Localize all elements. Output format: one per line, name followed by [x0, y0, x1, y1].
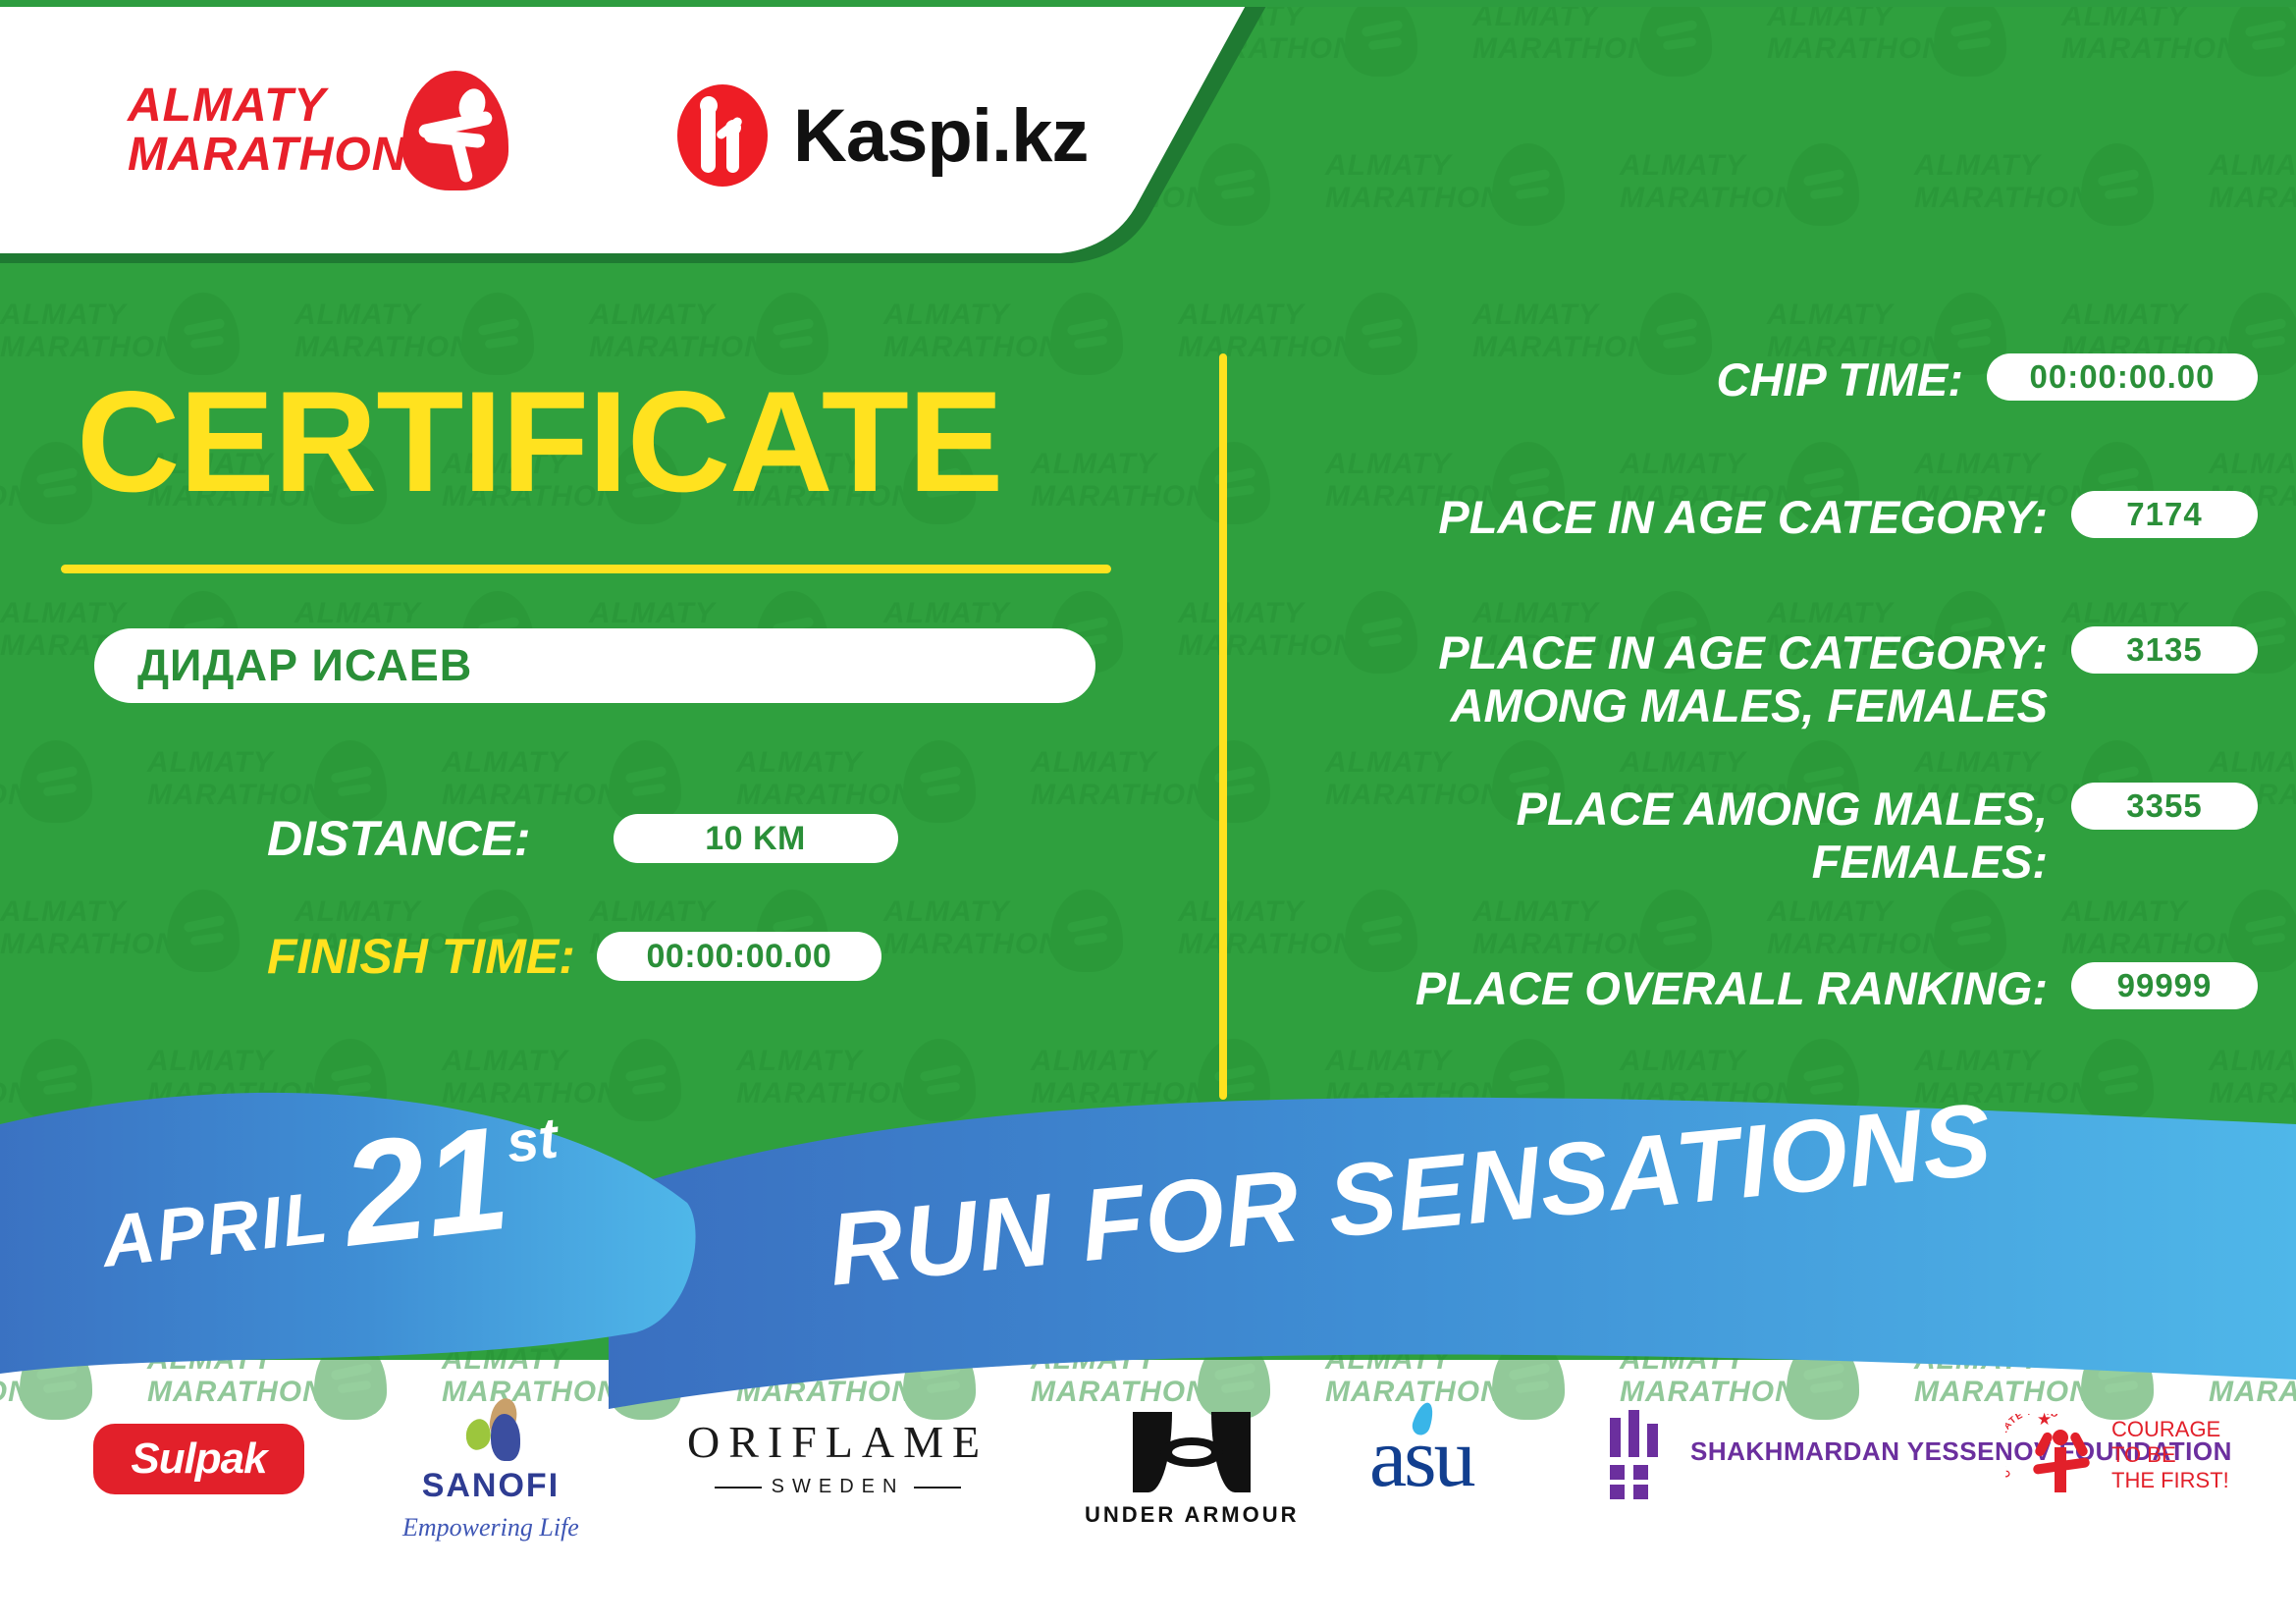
courage-fund-icon: CORPORATE FUND ★ [2007, 1410, 2098, 1500]
kaspi-family-icon [677, 84, 768, 187]
yessenov-bar-2 [1629, 1410, 1639, 1457]
watermark-text: ALMATY [2209, 149, 2296, 182]
sulpak-logo: Sulpak [93, 1424, 304, 1494]
watermark-tile: ALMATYMARATHON [2209, 149, 2296, 297]
kaspi-wordmark: Kaspi.kz [793, 93, 1088, 179]
logo-line-1: ALMATY [128, 81, 406, 131]
event-month: APRIL [97, 1174, 333, 1283]
yessenov-icon [1610, 1410, 1671, 1492]
distance-row: DISTANCE: 10 KM [267, 810, 898, 867]
stat-row-place-overall: PLACE OVERALL RANKING: 99999 [1266, 962, 2258, 1015]
oriflame-rule-left [715, 1487, 762, 1489]
sponsor-under-armour: UNDER ARMOUR [1085, 1412, 1300, 1528]
watermark-tile: ALMATYMARATHON [1472, 0, 1767, 147]
participant-name-field: ДИДАР ИСАЕВ [94, 628, 1095, 703]
stat-value: 99999 [2117, 967, 2213, 1004]
under-armour-wordmark: UNDER ARMOUR [1085, 1502, 1300, 1528]
stat-label: PLACE IN AGE CATEGORY: AMONG MALES, FEMA… [1266, 626, 2071, 732]
sponsor-sanofi: SANOFI Empowering Life [402, 1396, 579, 1543]
watermark-tile: ALMATYMARATHON [1767, 0, 2061, 147]
watermark-text: ALMATY [1472, 298, 1767, 331]
oriflame-sub-row: SWEDEN [715, 1476, 962, 1498]
sponsor-courage-fund: CORPORATE FUND ★ COURAGE TO BE THE FIRST… [2007, 1410, 2229, 1500]
yessenov-bar-3 [1647, 1424, 1658, 1457]
finish-time-value: 00:00:00.00 [646, 938, 831, 976]
distance-label: DISTANCE: [267, 810, 531, 867]
stat-value-pill: 7174 [2071, 491, 2258, 538]
page-title: CERTIFICATE [77, 368, 1002, 515]
watermark-text: ALMATY [1767, 298, 2061, 331]
sponsor-oriflame: ORIFLAME SWEDEN [687, 1416, 988, 1498]
almaty-marathon-wordmark: ALMATY MARATHON [128, 81, 406, 180]
asu-logo: asu [1369, 1408, 1473, 1506]
event-day-suffix: st [504, 1105, 561, 1175]
stat-value: 3135 [2126, 631, 2202, 669]
event-day: 21 [337, 1109, 515, 1264]
header-logo-row: ALMATY MARATHON Kaspi.kz [0, 0, 1178, 265]
sponsor-bar: Sulpak SANOFI Empowering Life ORIFLAME S… [0, 1414, 2296, 1624]
top-green-rule [0, 0, 2296, 7]
watermark-text: MARATHON [2209, 182, 2296, 214]
distance-value-pill: 10 KM [614, 814, 898, 863]
sponsor-sulpak: Sulpak [93, 1424, 304, 1494]
sponsor-asu: asu [1369, 1408, 1473, 1506]
oriflame-rule-right [914, 1487, 961, 1489]
stat-value: 7174 [2126, 496, 2202, 533]
yessenov-dot-2 [1633, 1465, 1648, 1480]
watermark-text: ALMATY [1178, 298, 1472, 331]
watermark-tile: ALMATYMARATHON [1914, 149, 2209, 297]
stat-value-pill: 99999 [2071, 962, 2258, 1009]
ua-center-hole [1172, 1445, 1211, 1459]
under-armour-icon [1133, 1412, 1251, 1492]
yessenov-dot-1 [1610, 1465, 1625, 1480]
watermark-text: MARATHON [1620, 182, 1914, 214]
yessenov-bar-1 [1610, 1418, 1621, 1457]
courage-line-3: THE FIRST! [2111, 1468, 2229, 1493]
yessenov-dot-3 [1610, 1485, 1625, 1499]
kaspi-logo: Kaspi.kz [677, 84, 1088, 187]
stat-value-pill: 00:00:00.00 [1987, 353, 2258, 401]
courage-line-1: COURAGE [2111, 1417, 2229, 1442]
courage-arm-right [2068, 1431, 2089, 1458]
title-underline [61, 565, 1111, 573]
stat-value-pill: 3355 [2071, 783, 2258, 830]
courage-line-2: TO BE [2111, 1442, 2229, 1468]
certificate-page: ALMATYMARATHONALMATYMARATHONALMATYMARATH… [0, 0, 2296, 1624]
stat-label: PLACE OVERALL RANKING: [1266, 962, 2071, 1015]
watermark-text: ALMATY [1914, 149, 2209, 182]
watermark-tile: ALMATYMARATHON [1620, 149, 1914, 297]
yessenov-dot-4 [1633, 1485, 1648, 1499]
courage-head [2053, 1430, 2068, 1445]
watermark-tile: ALMATYMARATHON [2061, 0, 2296, 147]
stat-label: PLACE AMONG MALES, FEMALES: [1266, 783, 2071, 889]
stat-value: 3355 [2126, 787, 2202, 825]
watermark-text: MARATHON [1472, 32, 1767, 65]
oriflame-wordmark: ORIFLAME [687, 1416, 988, 1468]
right-column: CHIP TIME: 00:00:00.00 PLACE IN AGE CATE… [1266, 353, 2268, 1100]
watermark-text: MARATHON [1914, 182, 2209, 214]
finish-time-row: FINISH TIME: 00:00:00.00 [267, 928, 881, 985]
stat-row-chip-time: CHIP TIME: 00:00:00.00 [1266, 353, 2258, 406]
sulpak-wordmark: Sulpak [131, 1435, 266, 1484]
participant-name-value: ДИДАР ИСАЕВ [137, 640, 472, 691]
column-divider [1219, 353, 1227, 1100]
stat-row-place-among-gender: PLACE AMONG MALES, FEMALES: 3355 [1266, 783, 2258, 889]
finish-time-value-pill: 00:00:00.00 [597, 932, 881, 981]
courage-fund-slogan: COURAGE TO BE THE FIRST! [2111, 1417, 2229, 1493]
sanofi-wordmark: SANOFI [422, 1467, 560, 1505]
kaspi-child-body [726, 124, 739, 173]
stat-value-pill: 3135 [2071, 626, 2258, 674]
watermark-runner-icon [2228, 0, 2296, 77]
stat-label: CHIP TIME: [1266, 353, 1987, 406]
sanofi-tagline: Empowering Life [402, 1513, 579, 1543]
stat-row-place-age-category: PLACE IN AGE CATEGORY: 7174 [1266, 491, 2258, 544]
watermark-text: ALMATY [1620, 149, 1914, 182]
almaty-marathon-logo: ALMATY MARATHON [128, 71, 508, 190]
runner-icon [402, 71, 508, 190]
finish-time-label: FINISH TIME: [267, 928, 575, 985]
stat-label: PLACE IN AGE CATEGORY: [1266, 491, 2071, 544]
courage-figure-icon [2041, 1424, 2082, 1494]
oriflame-subtitle: SWEDEN [772, 1476, 905, 1498]
watermark-runner-icon [1934, 0, 2006, 77]
stat-row-place-age-category-gender: PLACE IN AGE CATEGORY: AMONG MALES, FEMA… [1266, 626, 2258, 732]
stat-value: 00:00:00.00 [2030, 358, 2216, 396]
logo-line-2: MARATHON [128, 131, 406, 180]
distance-value: 10 KM [705, 820, 806, 858]
left-column: CERTIFICATE ДИДАР ИСАЕВ DISTANCE: 10 KM … [0, 324, 1168, 1100]
watermark-text: MARATHON [1767, 32, 2061, 65]
sanofi-shape-2 [491, 1414, 520, 1461]
kaspi-adult-body [701, 100, 716, 173]
watermark-runner-icon [1639, 0, 1712, 77]
sanofi-icon [459, 1396, 522, 1463]
